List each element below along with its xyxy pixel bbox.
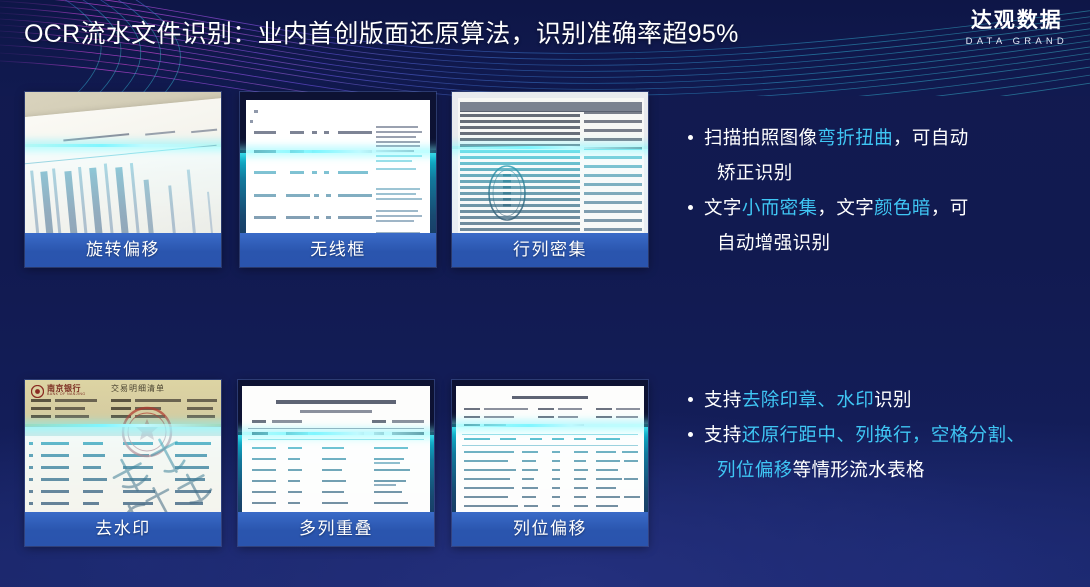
bullet-line-2: 矫正识别 xyxy=(704,155,1076,190)
bullet-item: 扫描拍照图像弯折扭曲，可自动 矫正识别 xyxy=(686,120,1076,190)
bullet-item: 支持还原行距中、列换行，空格分割、 列位偏移等情形流水表格 xyxy=(686,417,1076,487)
bullet-line-1: 扫描拍照图像弯折扭曲，可自动 xyxy=(704,127,969,148)
card-label-dense-grid: 行列密集 xyxy=(452,233,648,267)
bullet-line-1: 文字小而密集，文字颜色暗，可 xyxy=(704,197,969,218)
bullet-group-table-restore: 支持去除印章、水印识别 支持还原行距中、列换行，空格分割、 列位偏移等情形流水表… xyxy=(686,382,1076,487)
sample-card-dense-grid[interactable]: 行列密集 xyxy=(452,92,648,267)
slide-header: OCR流水文件识别：业内首创版面还原算法，识别准确率超95% 达观数据 DATA… xyxy=(0,0,1090,68)
card-label-multi-column-overlap: 多列重叠 xyxy=(238,512,434,546)
bullet-item: 支持去除印章、水印识别 xyxy=(686,382,1076,417)
sample-card-borderless[interactable]: 无线框 xyxy=(240,92,436,267)
bullet-group-image-quality: 扫描拍照图像弯折扭曲，可自动 矫正识别 文字小而密集，文字颜色暗，可 自动增强识… xyxy=(686,120,1076,260)
card-label-column-shift: 列位偏移 xyxy=(452,512,648,546)
bullet-line-1: 支持还原行距中、列换行，空格分割、 xyxy=(704,424,1025,445)
logo-chinese: 达观数据 xyxy=(966,8,1068,34)
bullet-item: 文字小而密集，文字颜色暗，可 自动增强识别 xyxy=(686,190,1076,260)
sample-card-column-shift[interactable]: 列位偏移 xyxy=(452,380,648,546)
bullet-line-2: 自动增强识别 xyxy=(704,225,1076,260)
sample-card-multi-column-overlap[interactable]: 多列重叠 xyxy=(238,380,434,546)
card-label-rotation-offset: 旋转偏移 xyxy=(25,233,221,267)
oval-stamp-icon xyxy=(486,164,528,222)
bullet-line-2: 列位偏移等情形流水表格 xyxy=(704,452,1076,487)
sample-card-watermark-removal[interactable]: 南京银行 BANK OF NANJING 交易明细清单 xyxy=(25,380,221,546)
sample-card-rotation-offset[interactable]: 旋转偏移 xyxy=(25,92,221,267)
logo-english: DATA GRAND xyxy=(966,35,1068,48)
page-title: OCR流水文件识别：业内首创版面还原算法，识别准确率超95% xyxy=(24,17,739,51)
statement-title: 交易明细清单 xyxy=(111,383,165,394)
bank-name-en: BANK OF NANJING xyxy=(47,392,86,396)
bullet-line-1: 支持去除印章、水印识别 xyxy=(704,389,912,410)
brand-logo: 达观数据 DATA GRAND xyxy=(966,8,1068,48)
bank-logo-icon xyxy=(31,385,44,398)
card-label-borderless: 无线框 xyxy=(240,233,436,267)
card-label-watermark-removal: 去水印 xyxy=(25,512,221,546)
